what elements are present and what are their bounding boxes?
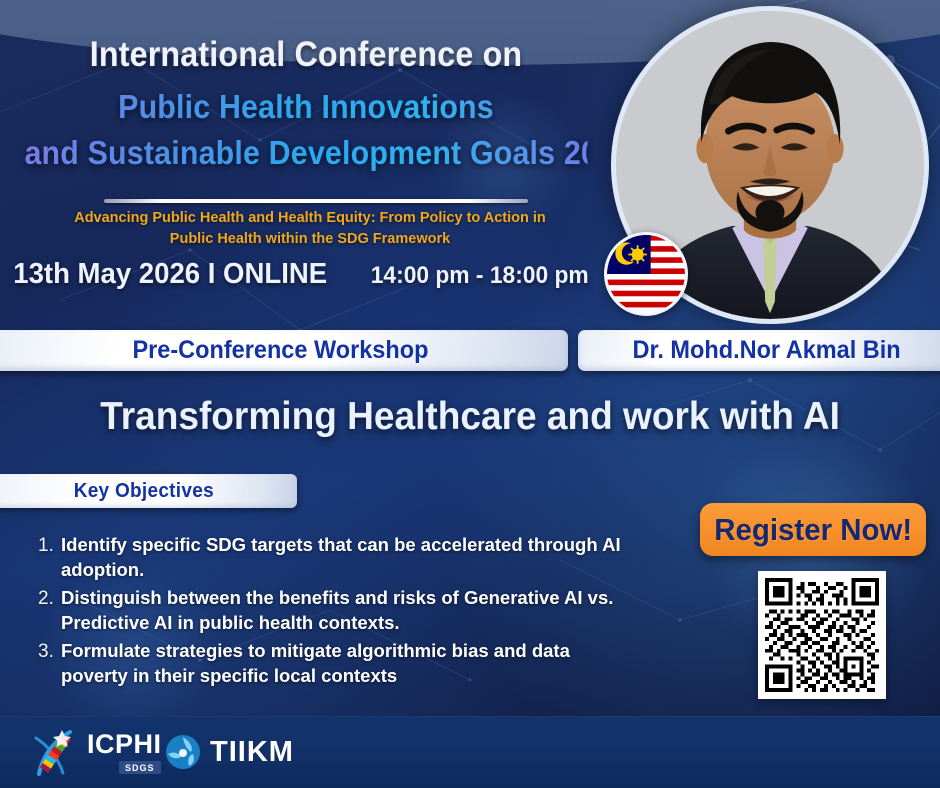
list-item-text: Formulate strategies to mitigate algorit… [61, 639, 638, 688]
theme-line-1: Advancing Public Health and Health Equit… [0, 208, 620, 229]
icphi-swirl-icon [30, 728, 82, 778]
qr-code-image [765, 578, 879, 692]
qr-code[interactable] [758, 571, 886, 699]
objectives-list: 1. Identify specific SDG targets that ca… [38, 533, 638, 693]
title-line-1: International Conference on [24, 36, 587, 74]
conference-poster: International Conference on Public Healt… [0, 0, 940, 788]
theme-line-2: Public Health within the SDG Framework [0, 229, 620, 250]
icphi-sdgs-badge: SDGS [119, 761, 161, 774]
list-item: 3. Formulate strategies to mitigate algo… [38, 639, 638, 688]
icphi-wordmark: ICPHI [87, 731, 162, 758]
speaker-name-banner: Dr. Mohd.Nor Akmal Bin [578, 330, 940, 371]
title-line-3: and Sustainable Development Goals 2026 [24, 135, 587, 171]
list-item-text: Identify specific SDG targets that can b… [61, 533, 638, 582]
list-item-number: 3. [38, 639, 61, 664]
list-item-number: 2. [38, 586, 61, 611]
event-date: 13th May 2026 I ONLINE [13, 258, 327, 291]
key-objectives-label: Key Objectives [73, 480, 213, 503]
icphi-text: ICPHI SDGS [87, 731, 162, 776]
date-time-row: 13th May 2026 I ONLINE 14:00 pm - 18:00 … [0, 258, 600, 291]
register-now-button[interactable]: Register Now! [700, 503, 926, 556]
malaysia-flag-icon [604, 232, 688, 316]
list-item-text: Distinguish between the benefits and ris… [61, 586, 638, 635]
tiikm-globe-icon [165, 734, 201, 770]
list-item: 2. Distinguish between the benefits and … [38, 586, 638, 635]
list-item: 1. Identify specific SDG targets that ca… [38, 533, 638, 582]
speaker-name-label: Dr. Mohd.Nor Akmal Bin [633, 336, 901, 365]
tiikm-logo: TIIKM [165, 734, 294, 770]
workshop-label: Pre-Conference Workshop [132, 336, 428, 365]
footer-bar: ICPHI SDGS TIIKM [0, 716, 940, 788]
event-time: 14:00 pm - 18:00 pm [371, 262, 589, 290]
title-divider [104, 199, 528, 203]
list-item-number: 1. [38, 533, 61, 558]
title-line-2: Public Health Innovations [24, 89, 587, 125]
register-now-label: Register Now! [714, 512, 912, 548]
pre-conference-workshop-banner: Pre-Conference Workshop [0, 330, 568, 371]
title-block: International Conference on Public Healt… [0, 36, 612, 171]
conference-theme: Advancing Public Health and Health Equit… [0, 208, 620, 250]
icphi-logo: ICPHI SDGS [30, 728, 162, 778]
workshop-headline: Transforming Healthcare and work with AI [24, 395, 917, 439]
tiikm-wordmark: TIIKM [210, 738, 294, 767]
key-objectives-banner: Key Objectives [0, 474, 297, 508]
